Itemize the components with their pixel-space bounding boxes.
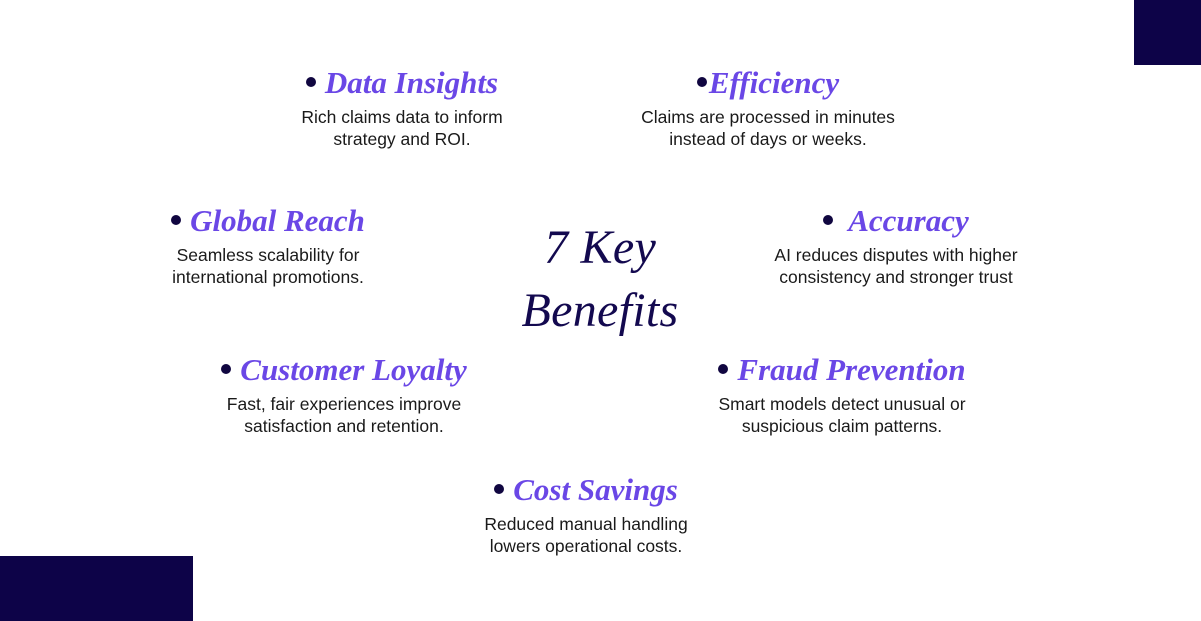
bullet-icon: [306, 77, 316, 87]
benefit-heading-label: Data Insights: [325, 65, 498, 100]
benefit-description-fraud-prevention: Smart models detect unusual or suspiciou…: [710, 393, 974, 438]
bullet-icon: [823, 215, 833, 225]
benefit-item-customer-loyalty: Customer Loyalty Fast, fair experiences …: [212, 353, 476, 438]
benefit-heading-label: Efficiency: [709, 65, 839, 100]
benefit-item-fraud-prevention: Fraud Prevention Smart models detect unu…: [710, 353, 974, 438]
benefit-item-efficiency: Efficiency Claims are processed in minut…: [634, 66, 902, 151]
benefit-heading-label: Fraud Prevention: [737, 352, 965, 387]
benefit-heading-cost-savings: Cost Savings: [468, 473, 704, 507]
benefit-item-data-insights: Data Insights Rich claims data to inform…: [268, 66, 536, 151]
benefit-item-accuracy: Accuracy AI reduces disputes with higher…: [768, 204, 1024, 289]
benefit-item-cost-savings: Cost Savings Reduced manual handling low…: [468, 473, 704, 558]
page-title: 7 Key Benefits: [470, 216, 730, 343]
benefit-heading-label: Customer Loyalty: [240, 352, 466, 387]
benefit-heading-global-reach: Global Reach: [148, 204, 388, 238]
benefit-description-global-reach: Seamless scalability for international p…: [148, 244, 388, 289]
benefit-heading-label: Accuracy: [848, 203, 969, 238]
decorative-block-top-right: [1134, 0, 1201, 65]
benefit-heading-efficiency: Efficiency: [634, 66, 902, 100]
benefit-description-data-insights: Rich claims data to inform strategy and …: [268, 106, 536, 151]
benefit-item-global-reach: Global Reach Seamless scalability for in…: [148, 204, 388, 289]
benefit-heading-label: Global Reach: [190, 203, 365, 238]
benefit-heading-fraud-prevention: Fraud Prevention: [710, 353, 974, 387]
benefit-description-accuracy: AI reduces disputes with higher consiste…: [768, 244, 1024, 289]
benefit-heading-data-insights: Data Insights: [268, 66, 536, 100]
bullet-icon: [494, 484, 504, 494]
benefit-description-cost-savings: Reduced manual handling lowers operation…: [468, 513, 704, 558]
bullet-icon: [718, 364, 728, 374]
benefit-heading-label: Cost Savings: [513, 472, 678, 507]
bullet-icon: [221, 364, 231, 374]
bullet-icon: [171, 215, 181, 225]
bullet-icon: [697, 77, 707, 87]
benefit-heading-customer-loyalty: Customer Loyalty: [212, 353, 476, 387]
benefit-description-efficiency: Claims are processed in minutes instead …: [634, 106, 902, 151]
decorative-block-bottom-left: [0, 556, 193, 621]
benefit-heading-accuracy: Accuracy: [768, 204, 1024, 238]
benefit-description-customer-loyalty: Fast, fair experiences improve satisfact…: [212, 393, 476, 438]
